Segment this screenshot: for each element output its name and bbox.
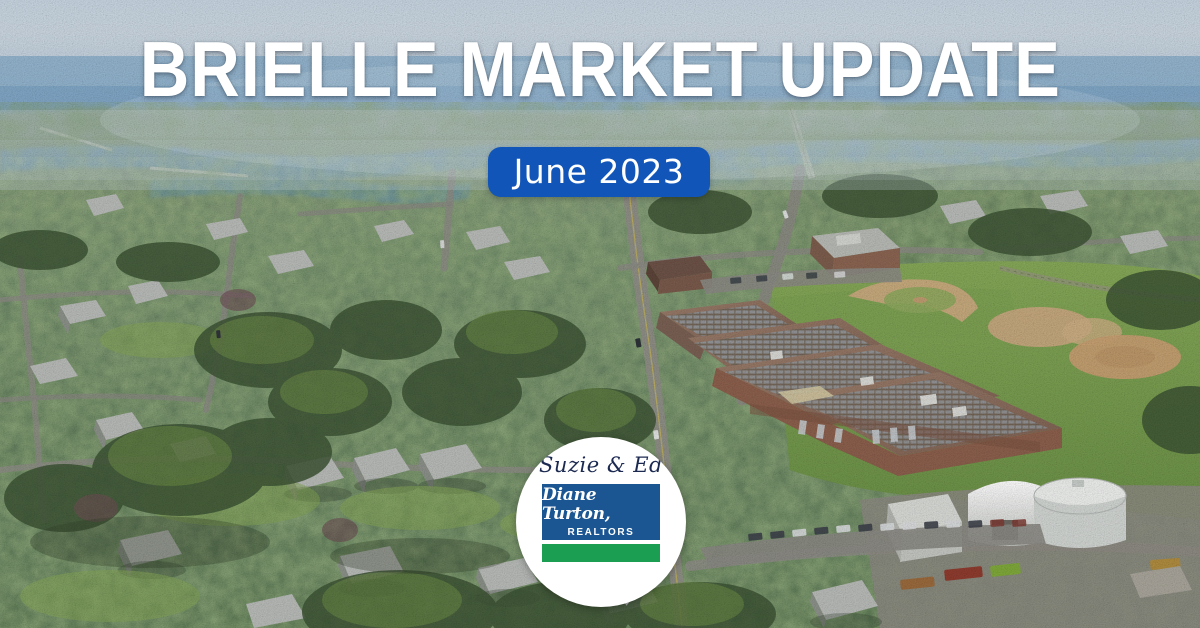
logo-brand-box: Diane Turton, REALTORS — [542, 484, 660, 540]
logo-agent-names: Suzie & Ed — [516, 453, 686, 477]
market-update-poster: BRIELLE MARKET UPDATE June 2023 Suzie & … — [0, 0, 1200, 628]
date-badge: June 2023 — [488, 147, 710, 197]
logo-brand-subtitle: REALTORS — [568, 526, 635, 539]
date-badge-label: June 2023 — [514, 155, 685, 189]
logo-green-bar — [542, 544, 660, 562]
diane-turton-logo: Suzie & Ed Diane Turton, REALTORS — [516, 437, 686, 607]
logo-brand-name: Diane Turton, — [542, 486, 660, 524]
